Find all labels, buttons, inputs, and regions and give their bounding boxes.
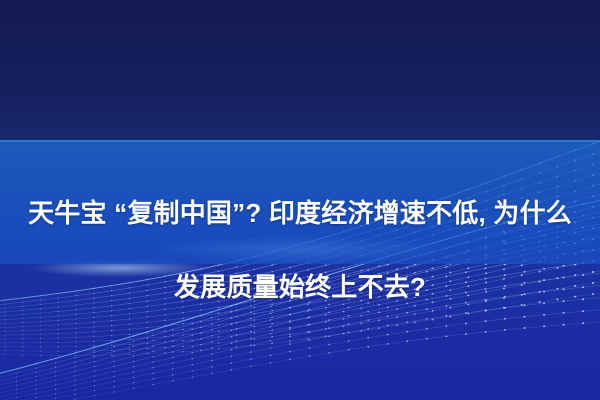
article-title-banner: 天牛宝 “复制中国”? 印度经济增速不低, 为什么 发展质量始终上不去? [0,0,600,400]
page-title-line-1: 天牛宝 “复制中国”? 印度经济增速不低, 为什么 [6,195,594,232]
headline-band-top-edge [0,140,600,142]
page-title-line-2: 发展质量始终上不去? [6,269,594,306]
page-title: 天牛宝 “复制中国”? 印度经济增速不低, 为什么 发展质量始终上不去? [0,158,600,343]
